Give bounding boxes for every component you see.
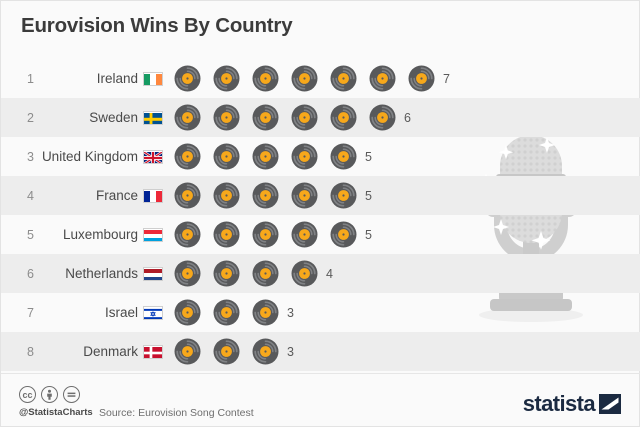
infographic-canvas: Eurovision Wins By Country Eurovision bbox=[0, 0, 640, 427]
value-label: 3 bbox=[287, 345, 294, 359]
country-flag-cell bbox=[138, 111, 168, 125]
vinyl-record-icon bbox=[369, 65, 396, 92]
rank-number: 4 bbox=[1, 189, 34, 203]
record-icon-group bbox=[174, 143, 369, 170]
record-icon-group bbox=[174, 182, 369, 209]
value-label: 5 bbox=[365, 150, 372, 164]
country-flag-cell bbox=[138, 267, 168, 281]
vinyl-record-icon bbox=[369, 65, 396, 92]
vinyl-record-icon bbox=[291, 104, 318, 131]
vinyl-record-icon bbox=[291, 260, 318, 287]
vinyl-record-icon bbox=[291, 65, 318, 92]
table-row: 5Luxembourg5 bbox=[1, 215, 640, 254]
record-icon-group bbox=[174, 65, 447, 92]
value-label: 6 bbox=[404, 111, 411, 125]
flag-dk-icon bbox=[143, 345, 163, 359]
vinyl-record-icon bbox=[213, 299, 240, 326]
vinyl-record-icon bbox=[291, 182, 318, 209]
table-row: 6Netherlands4 bbox=[1, 254, 640, 293]
vinyl-record-icon bbox=[213, 338, 240, 365]
vinyl-record-icon bbox=[330, 143, 357, 170]
cc-by-person-icon bbox=[41, 386, 58, 403]
table-row: 7Israel3 bbox=[1, 293, 640, 332]
rank-number: 2 bbox=[1, 111, 34, 125]
vinyl-record-icon bbox=[252, 338, 279, 365]
chart-rows: 1Ireland72Sweden63United Kingdom54France… bbox=[1, 59, 640, 371]
country-name: Denmark bbox=[34, 344, 138, 359]
vinyl-record-icon bbox=[252, 143, 279, 170]
vinyl-record-icon bbox=[252, 221, 279, 248]
country-flag-cell bbox=[138, 189, 168, 203]
country-flag-cell bbox=[138, 72, 168, 86]
vinyl-record-icon bbox=[408, 65, 435, 92]
vinyl-record-icon bbox=[174, 182, 201, 209]
vinyl-record-icon bbox=[369, 104, 396, 131]
country-flag-cell bbox=[138, 345, 168, 359]
vinyl-record-icon bbox=[252, 338, 279, 365]
vinyl-record-icon bbox=[330, 104, 357, 131]
page-title: Eurovision Wins By Country bbox=[21, 14, 292, 38]
country-flag-cell bbox=[138, 306, 168, 320]
vinyl-record-icon bbox=[174, 260, 201, 287]
vinyl-record-icon bbox=[408, 65, 435, 92]
source-note: Source: Eurovision Song Contest bbox=[99, 407, 254, 419]
rank-number: 1 bbox=[1, 72, 34, 86]
vinyl-record-icon bbox=[330, 65, 357, 92]
vinyl-record-icon bbox=[252, 104, 279, 131]
country-name: Luxembourg bbox=[34, 227, 138, 242]
vinyl-record-icon bbox=[252, 299, 279, 326]
vinyl-record-icon bbox=[213, 65, 240, 92]
vinyl-record-icon bbox=[252, 260, 279, 287]
vinyl-record-icon bbox=[174, 221, 201, 248]
vinyl-record-icon bbox=[291, 143, 318, 170]
table-row: 3United Kingdom5 bbox=[1, 137, 640, 176]
vinyl-record-icon bbox=[252, 260, 279, 287]
vinyl-record-icon bbox=[174, 65, 201, 92]
country-name: United Kingdom bbox=[34, 149, 138, 164]
vinyl-record-icon bbox=[174, 143, 201, 170]
vinyl-record-icon bbox=[330, 65, 357, 92]
country-name: Sweden bbox=[34, 110, 138, 125]
footer-divider bbox=[1, 373, 640, 374]
vinyl-record-icon bbox=[291, 104, 318, 131]
rank-number: 7 bbox=[1, 306, 34, 320]
vinyl-record-icon bbox=[174, 299, 201, 326]
flag-gb-icon bbox=[143, 150, 163, 164]
rank-number: 6 bbox=[1, 267, 34, 281]
statista-logo: statista bbox=[523, 393, 621, 415]
vinyl-record-icon bbox=[330, 221, 357, 248]
vinyl-record-icon bbox=[252, 299, 279, 326]
vinyl-record-icon bbox=[213, 338, 240, 365]
vinyl-record-icon bbox=[252, 182, 279, 209]
vinyl-record-icon bbox=[291, 143, 318, 170]
flag-fr-icon bbox=[143, 189, 163, 203]
value-label: 7 bbox=[443, 72, 450, 86]
vinyl-record-icon bbox=[252, 65, 279, 92]
creative-commons-icons: cc bbox=[19, 386, 80, 403]
cc-nd-equals-icon bbox=[63, 386, 80, 403]
vinyl-record-icon bbox=[213, 143, 240, 170]
rank-number: 3 bbox=[1, 150, 34, 164]
vinyl-record-icon bbox=[330, 221, 357, 248]
vinyl-record-icon bbox=[291, 221, 318, 248]
vinyl-record-icon bbox=[213, 104, 240, 131]
vinyl-record-icon bbox=[330, 182, 357, 209]
vinyl-record-icon bbox=[174, 221, 201, 248]
vinyl-record-icon bbox=[291, 65, 318, 92]
country-flag-cell bbox=[138, 228, 168, 242]
vinyl-record-icon bbox=[174, 104, 201, 131]
country-name: France bbox=[34, 188, 138, 203]
flag-ie-icon bbox=[143, 72, 163, 86]
flag-se-icon bbox=[143, 111, 163, 125]
vinyl-record-icon bbox=[213, 65, 240, 92]
vinyl-record-icon bbox=[252, 65, 279, 92]
vinyl-record-icon bbox=[291, 260, 318, 287]
country-name: Ireland bbox=[34, 71, 138, 86]
country-flag-cell bbox=[138, 150, 168, 164]
vinyl-record-icon bbox=[252, 104, 279, 131]
flag-il-icon bbox=[143, 306, 163, 320]
table-row: 8Denmark3 bbox=[1, 332, 640, 371]
vinyl-record-icon bbox=[174, 299, 201, 326]
vinyl-record-icon bbox=[174, 338, 201, 365]
table-row: 4France5 bbox=[1, 176, 640, 215]
vinyl-record-icon bbox=[174, 143, 201, 170]
record-icon-group bbox=[174, 338, 291, 365]
table-row: 2Sweden6 bbox=[1, 98, 640, 137]
vinyl-record-icon bbox=[213, 182, 240, 209]
value-label: 4 bbox=[326, 267, 333, 281]
vinyl-record-icon bbox=[213, 104, 240, 131]
vinyl-record-icon bbox=[174, 104, 201, 131]
record-icon-group bbox=[174, 299, 291, 326]
vinyl-record-icon bbox=[174, 338, 201, 365]
country-name: Netherlands bbox=[34, 266, 138, 281]
value-label: 5 bbox=[365, 189, 372, 203]
vinyl-record-icon bbox=[369, 104, 396, 131]
rank-number: 8 bbox=[1, 345, 34, 359]
vinyl-record-icon bbox=[213, 299, 240, 326]
record-icon-group bbox=[174, 221, 369, 248]
vinyl-record-icon bbox=[252, 143, 279, 170]
record-icon-group bbox=[174, 260, 330, 287]
vinyl-record-icon bbox=[330, 104, 357, 131]
vinyl-record-icon bbox=[330, 182, 357, 209]
vinyl-record-icon bbox=[252, 182, 279, 209]
table-row: 1Ireland7 bbox=[1, 59, 640, 98]
vinyl-record-icon bbox=[174, 260, 201, 287]
vinyl-record-icon bbox=[213, 260, 240, 287]
vinyl-record-icon bbox=[252, 221, 279, 248]
vinyl-record-icon bbox=[213, 260, 240, 287]
vinyl-record-icon bbox=[174, 182, 201, 209]
vinyl-record-icon bbox=[174, 65, 201, 92]
vinyl-record-icon bbox=[291, 221, 318, 248]
record-icon-group bbox=[174, 104, 408, 131]
rank-number: 5 bbox=[1, 228, 34, 242]
statista-wordmark: statista bbox=[523, 393, 595, 415]
vinyl-record-icon bbox=[213, 143, 240, 170]
flag-nl-icon bbox=[143, 267, 163, 281]
vinyl-record-icon bbox=[291, 182, 318, 209]
cc-icon: cc bbox=[19, 386, 36, 403]
value-label: 5 bbox=[365, 228, 372, 242]
statista-charts-handle: @StatistaCharts bbox=[19, 407, 93, 418]
statista-logo-mark bbox=[599, 394, 621, 414]
flag-lu-icon bbox=[143, 228, 163, 242]
vinyl-record-icon bbox=[213, 182, 240, 209]
country-name: Israel bbox=[34, 305, 138, 320]
value-label: 3 bbox=[287, 306, 294, 320]
vinyl-record-icon bbox=[330, 143, 357, 170]
vinyl-record-icon bbox=[213, 221, 240, 248]
vinyl-record-icon bbox=[213, 221, 240, 248]
